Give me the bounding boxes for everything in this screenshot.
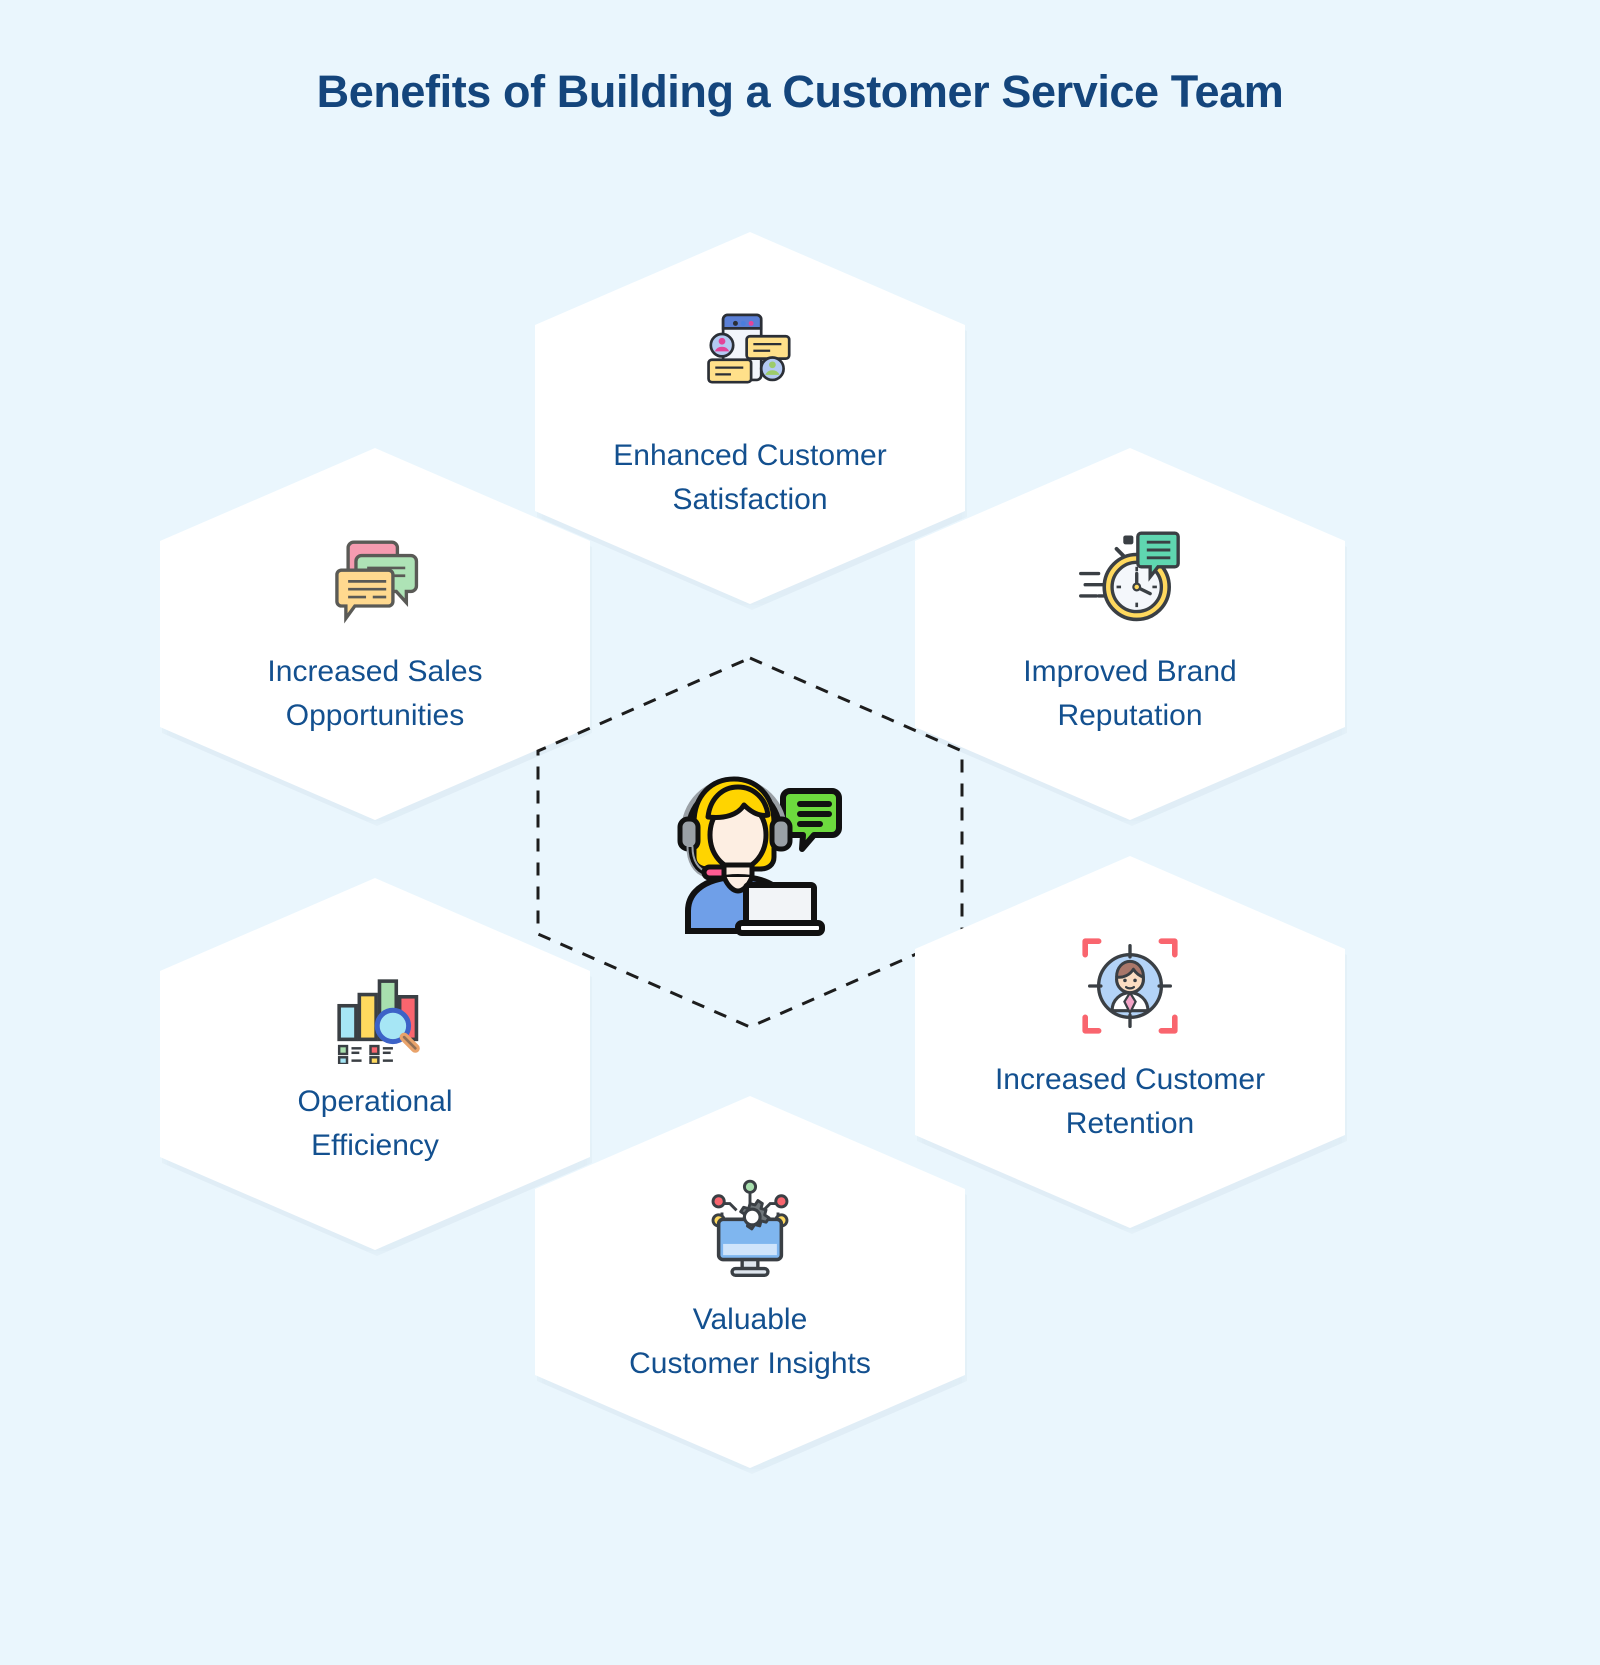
- page-title: Benefits of Building a Customer Service …: [0, 66, 1600, 118]
- infographic-canvas: Benefits of Building a Customer Service …: [0, 0, 1600, 1665]
- customer-service-agent-headset-icon: [650, 743, 850, 943]
- benefit-hex-improved-brand-reputation[interactable]: Improved Brand Reputation: [915, 448, 1345, 820]
- benefit-label: Operational Efficiency: [205, 1080, 545, 1167]
- stacked-chat-bubbles-icon: [319, 522, 431, 634]
- benefit-label: Enhanced Customer Satisfaction: [580, 434, 920, 521]
- monitor-gear-network-icon: [694, 1170, 806, 1282]
- benefit-hex-operational-efficiency[interactable]: Operational Efficiency: [160, 878, 590, 1250]
- customer-target-focus-icon: [1074, 930, 1186, 1042]
- benefit-label: Increased Sales Opportunities: [205, 650, 545, 737]
- benefit-label: Valuable Customer Insights: [580, 1298, 920, 1385]
- stopwatch-speed-chat-icon: [1074, 522, 1186, 634]
- benefit-hex-enhanced-customer-satisfaction[interactable]: Enhanced Customer Satisfaction: [535, 232, 965, 604]
- benefit-hex-increased-sales-opportunities[interactable]: Increased Sales Opportunities: [160, 448, 590, 820]
- bar-chart-magnifier-icon: [319, 952, 431, 1064]
- benefit-hex-valuable-customer-insights[interactable]: Valuable Customer Insights: [535, 1096, 965, 1468]
- center-hex-customer-service-agent[interactable]: [535, 655, 965, 1030]
- chat-window-messages-icon: [694, 306, 806, 418]
- benefit-label: Increased Customer Retention: [960, 1058, 1300, 1145]
- benefit-label: Improved Brand Reputation: [960, 650, 1300, 737]
- benefit-hex-increased-customer-retention[interactable]: Increased Customer Retention: [915, 856, 1345, 1228]
